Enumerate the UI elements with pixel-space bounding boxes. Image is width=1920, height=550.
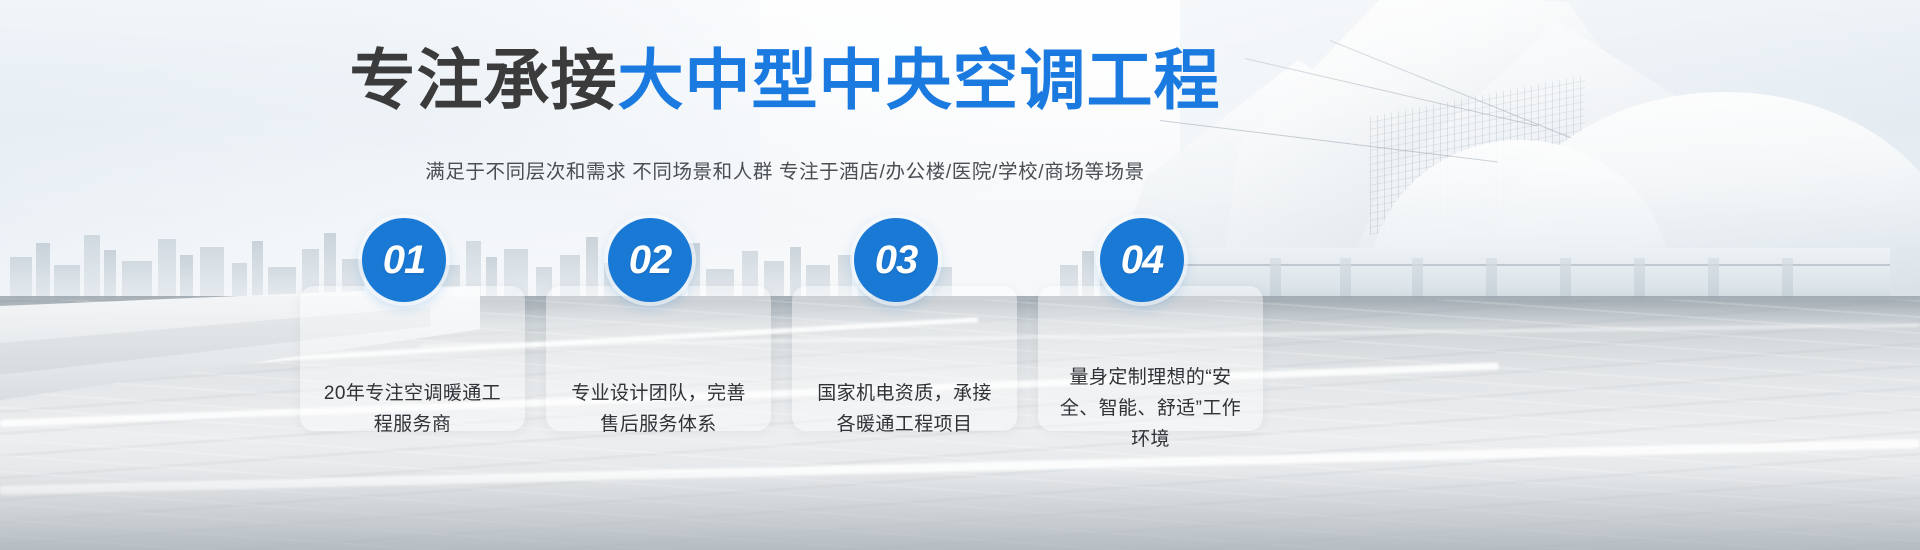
feature-card[interactable]: 国家机电资质，承接各暖通工程项目 xyxy=(792,286,1017,431)
feature-card[interactable]: 专业设计团队，完善售后服务体系 xyxy=(546,286,771,431)
banner-headline: 专注承接大中型中央空调工程 xyxy=(0,44,1570,116)
feature-card-text: 专业设计团队，完善售后服务体系 xyxy=(562,378,755,440)
feature-card-badge: 01 xyxy=(362,218,446,302)
banner-subtitle: 满足于不同层次和需求 不同场景和人群 专注于酒店/办公楼/医院/学校/商场等场景 xyxy=(0,158,1570,186)
feature-card-number: 02 xyxy=(629,240,672,280)
feature-card-text: 量身定制理想的“安全、智能、舒适”工作环境 xyxy=(1054,362,1247,455)
headline-dark-text: 专注承接 xyxy=(350,43,618,117)
feature-card-number: 04 xyxy=(1121,240,1164,280)
feature-card-badge: 02 xyxy=(608,218,692,302)
feature-card[interactable]: 20年专注空调暖通工程服务商 xyxy=(300,286,525,431)
banner-content: 专注承接大中型中央空调工程 满足于不同层次和需求 不同场景和人群 专注于酒店/办… xyxy=(0,0,1920,550)
feature-card-text: 国家机电资质，承接各暖通工程项目 xyxy=(808,378,1001,440)
feature-card-badge: 04 xyxy=(1100,218,1184,302)
feature-card-number: 01 xyxy=(383,240,426,280)
feature-card-list: 20年专注空调暖通工程服务商 01 专业设计团队，完善售后服务体系 02 国家机… xyxy=(300,218,1285,433)
feature-card[interactable]: 量身定制理想的“安全、智能、舒适”工作环境 xyxy=(1038,286,1263,431)
feature-card-text: 20年专注空调暖通工程服务商 xyxy=(316,378,509,440)
hero-banner: 专注承接大中型中央空调工程 满足于不同层次和需求 不同场景和人群 专注于酒店/办… xyxy=(0,0,1920,550)
feature-card-number: 03 xyxy=(875,240,918,280)
headline-accent-text: 大中型中央空调工程 xyxy=(618,43,1221,117)
feature-card-badge: 03 xyxy=(854,218,938,302)
